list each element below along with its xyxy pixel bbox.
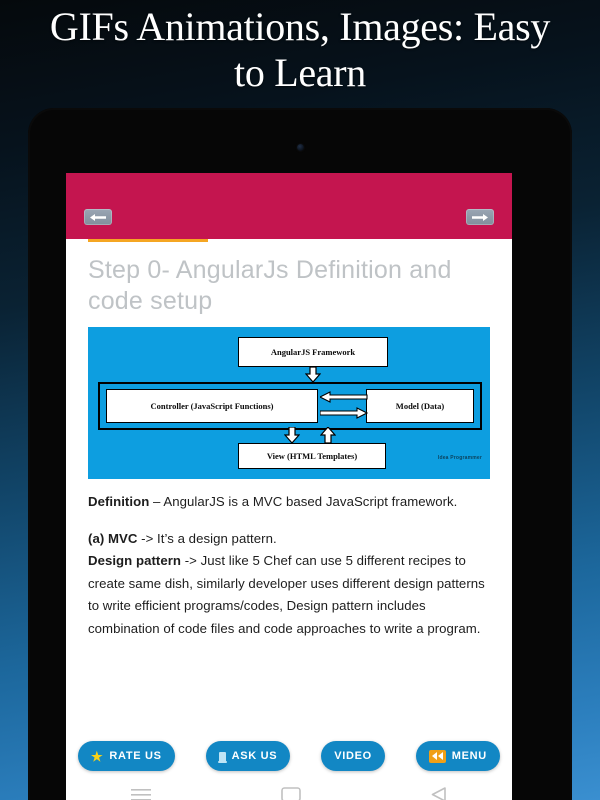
app-topbar [66,173,512,239]
device-screen: Step 0- AngularJs Definition and code se… [66,173,512,781]
accent-underline [88,239,208,242]
previous-button[interactable] [84,209,112,225]
arrow-framework-to-group-icon [305,367,321,383]
mvc-label: (a) MVC [88,531,137,546]
arrow-model-to-controller-icon [320,391,368,403]
rewind-icon [429,750,446,763]
menu-label: MENU [452,750,487,762]
menu-button[interactable]: MENU [416,741,500,771]
lesson-body: Definition – AngularJS is a MVC based Ja… [88,491,490,640]
front-camera-icon [297,144,304,151]
ask-us-label: ASK US [232,750,278,762]
video-label: VIDEO [334,750,372,762]
recents-menu-icon[interactable] [131,788,151,800]
star-icon: ★ [91,750,103,763]
tablet-device: Step 0- AngularJs Definition and code se… [28,108,572,800]
paragraph-design-pattern: Design pattern -> Just like 5 Chef can u… [88,550,490,640]
rate-us-label: RATE US [109,750,161,762]
home-square-icon[interactable] [281,787,301,800]
page-title: Step 0- AngularJs Definition and code se… [88,255,490,317]
diagram-box-view: View (HTML Templates) [238,443,386,469]
diagram-watermark: Idea Programmer [438,455,482,461]
arrow-view-to-group-icon [320,427,336,444]
back-triangle-icon[interactable] [431,787,447,800]
arrow-right-icon [471,213,489,222]
mvc-text: -> It’s a design pattern. [137,531,276,546]
paragraph-definition: Definition – AngularJS is a MVC based Ja… [88,491,490,514]
next-button[interactable] [466,209,494,225]
mail-icon [219,752,226,761]
definition-text: – AngularJS is a MVC based JavaScript fr… [149,494,457,509]
promo-screenshot: GIFs Animations, Images: Easy to Learn [0,0,600,800]
page-content: Step 0- AngularJs Definition and code se… [66,239,512,640]
arrow-left-icon [89,213,107,222]
action-button-row: ★ RATE US ASK US VIDEO MENU [66,741,512,771]
mvc-diagram: AngularJS Framework Controller (JavaScri… [88,327,490,479]
paragraph-mvc: (a) MVC -> It’s a design pattern. [88,528,490,551]
rate-us-button[interactable]: ★ RATE US [78,741,175,771]
android-navigation-bar [66,781,512,800]
definition-label: Definition [88,494,149,509]
promo-headline: GIFs Animations, Images: Easy to Learn [0,4,600,96]
design-pattern-label: Design pattern [88,553,181,568]
diagram-box-framework: AngularJS Framework [238,337,388,367]
diagram-box-model: Model (Data) [366,389,474,423]
video-button[interactable]: VIDEO [321,741,385,771]
arrow-controller-to-model-icon [320,407,368,419]
arrow-group-to-view-icon [284,427,300,444]
lesson-page: Step 0- AngularJs Definition and code se… [66,239,512,781]
ask-us-button[interactable]: ASK US [206,741,291,771]
diagram-box-controller: Controller (JavaScript Functions) [106,389,318,423]
